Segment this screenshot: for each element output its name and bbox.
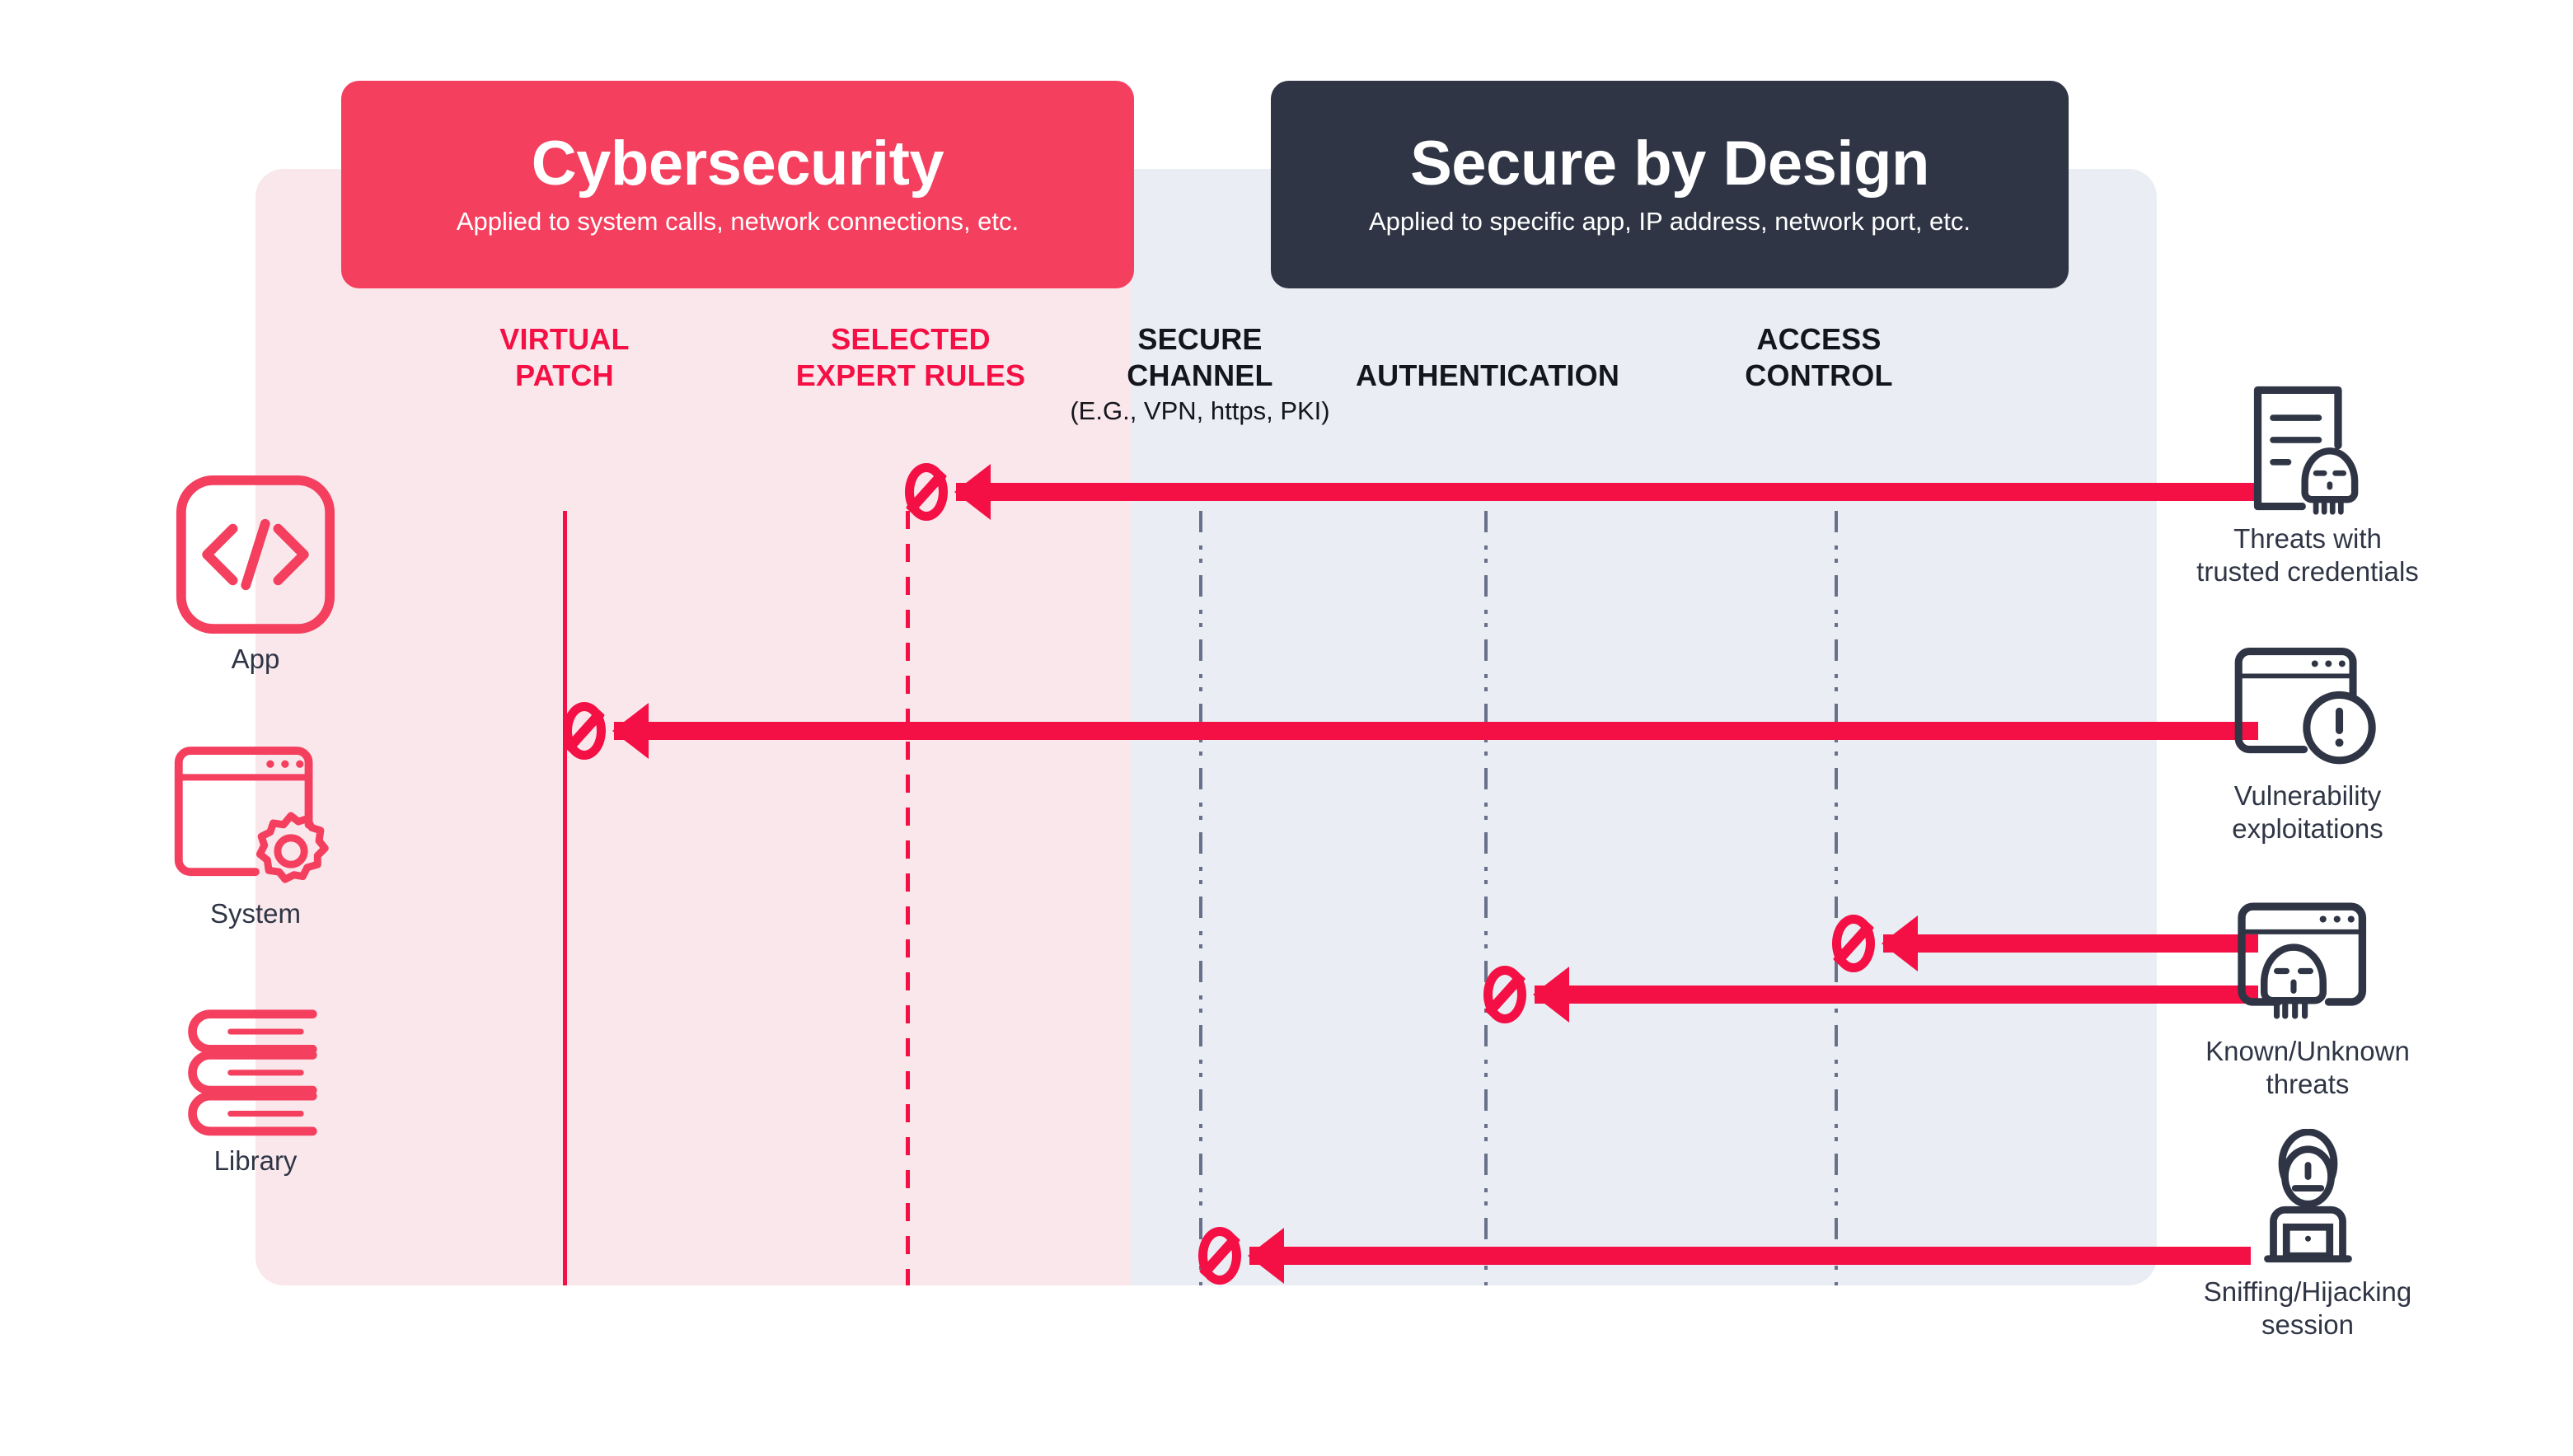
threat-vulnerability-exploitations: Vulnerability exploitations xyxy=(2168,643,2448,845)
threat-vulnerability-line1: Vulnerability xyxy=(2234,780,2382,811)
asset-library-label: Library xyxy=(148,1145,363,1177)
column-header-virtual-patch: VIRTUAL PATCH xyxy=(441,321,688,394)
no-entry-icon xyxy=(563,702,606,760)
no-entry-icon xyxy=(1198,1227,1241,1285)
column-header-expert-rules: SELECTED EXPERT RULES xyxy=(775,321,1047,394)
book-stack-icon xyxy=(175,1005,336,1137)
no-entry-icon xyxy=(1832,915,1875,972)
threat-trusted-credentials-label: Threats with trusted credentials xyxy=(2168,522,2448,588)
lane-line-authentication xyxy=(1484,511,1488,1285)
secure-by-design-banner: Secure by Design Applied to specific app… xyxy=(1271,81,2069,288)
arrow-shaft xyxy=(1249,1247,2251,1265)
cybersecurity-banner-title: Cybersecurity xyxy=(532,133,944,195)
threat-vulnerability-line2: exploitations xyxy=(2232,813,2383,844)
threat-known-unknown-line1: Known/Unknown xyxy=(2205,1036,2410,1066)
arrow-vulnerability xyxy=(614,722,2258,740)
window-gear-icon xyxy=(170,742,341,890)
threat-known-unknown-line2: threats xyxy=(2266,1069,2350,1099)
arrow-shaft xyxy=(956,483,2258,501)
threat-sniffing-hijacking-label: Sniffing/Hijacking session xyxy=(2159,1276,2456,1341)
column-header-expert-rules-line1: SELECTED xyxy=(831,322,991,356)
document-skull-icon xyxy=(2229,379,2386,517)
window-alert-icon xyxy=(2228,643,2388,775)
arrow-trusted-credentials xyxy=(956,483,2258,501)
arrow-sniffing-hijacking xyxy=(1249,1247,2251,1265)
threat-trusted-credentials: Threats with trusted credentials xyxy=(2168,379,2448,588)
column-header-access-control-line2: CONTROL xyxy=(1745,358,1892,392)
no-entry-icon xyxy=(1483,966,1526,1023)
asset-system: System xyxy=(148,742,363,929)
arrow-head-icon xyxy=(1248,1228,1284,1284)
arrow-known-threats-authentication xyxy=(1535,985,2258,1004)
arrow-head-icon xyxy=(1533,967,1569,1023)
arrow-shaft xyxy=(1535,985,2258,1004)
lane-line-secure-channel xyxy=(1199,511,1202,1285)
asset-system-label: System xyxy=(148,898,363,929)
cybersecurity-banner: Cybersecurity Applied to system calls, n… xyxy=(341,81,1134,288)
arrow-head-icon xyxy=(612,703,649,759)
threat-known-unknown: Known/Unknown threats xyxy=(2159,898,2456,1100)
threat-trusted-credentials-line2: trusted credentials xyxy=(2196,556,2419,587)
secure-by-design-banner-title: Secure by Design xyxy=(1410,133,1929,195)
column-header-virtual-patch-line2: PATCH xyxy=(515,358,614,392)
asset-app: App xyxy=(148,474,363,675)
arrow-head-icon xyxy=(1882,915,1918,971)
column-header-expert-rules-line2: EXPERT RULES xyxy=(796,358,1025,392)
arrow-head-icon xyxy=(954,464,991,520)
person-laptop-icon xyxy=(2236,1129,2380,1271)
cybersecurity-banner-subtitle: Applied to system calls, network connect… xyxy=(457,207,1019,236)
column-header-authentication-line2: AUTHENTICATION xyxy=(1356,358,1619,392)
lane-line-virtual-patch xyxy=(563,511,567,1285)
column-header-access-control: ACCESS CONTROL xyxy=(1683,321,1955,394)
code-brackets-icon xyxy=(175,474,336,635)
column-header-secure-channel: SECURE CHANNEL (E.G., VPN, https, PKI) xyxy=(1043,321,1357,427)
asset-library: Library xyxy=(148,1005,363,1177)
diagram-canvas: Cybersecurity Applied to system calls, n… xyxy=(0,0,2573,1456)
column-header-virtual-patch-line1: VIRTUAL xyxy=(499,322,629,356)
column-header-secure-channel-line1: SECURE xyxy=(1137,322,1262,356)
arrow-shaft xyxy=(614,722,2258,740)
no-entry-icon xyxy=(905,463,948,521)
column-header-access-control-line1: ACCESS xyxy=(1756,322,1881,356)
column-header-secure-channel-note: (E.G., VPN, https, PKI) xyxy=(1043,396,1357,427)
threat-sniffing-line1: Sniffing/Hijacking xyxy=(2204,1276,2412,1307)
threat-sniffing-line2: session xyxy=(2261,1309,2354,1340)
window-skull-icon xyxy=(2229,898,2386,1030)
column-header-authentication: AUTHENTICATION xyxy=(1327,321,1648,394)
threat-known-unknown-label: Known/Unknown threats xyxy=(2159,1035,2456,1100)
lane-line-access-control xyxy=(1835,511,1838,1285)
threat-vulnerability-exploitations-label: Vulnerability exploitations xyxy=(2168,779,2448,845)
lane-line-expert-rules xyxy=(906,511,910,1285)
asset-app-label: App xyxy=(148,644,363,675)
column-header-secure-channel-line2: CHANNEL xyxy=(1127,358,1272,392)
secure-by-design-banner-subtitle: Applied to specific app, IP address, net… xyxy=(1369,207,1971,236)
threat-sniffing-hijacking: Sniffing/Hijacking session xyxy=(2159,1129,2456,1341)
threat-trusted-credentials-line1: Threats with xyxy=(2233,523,2382,554)
